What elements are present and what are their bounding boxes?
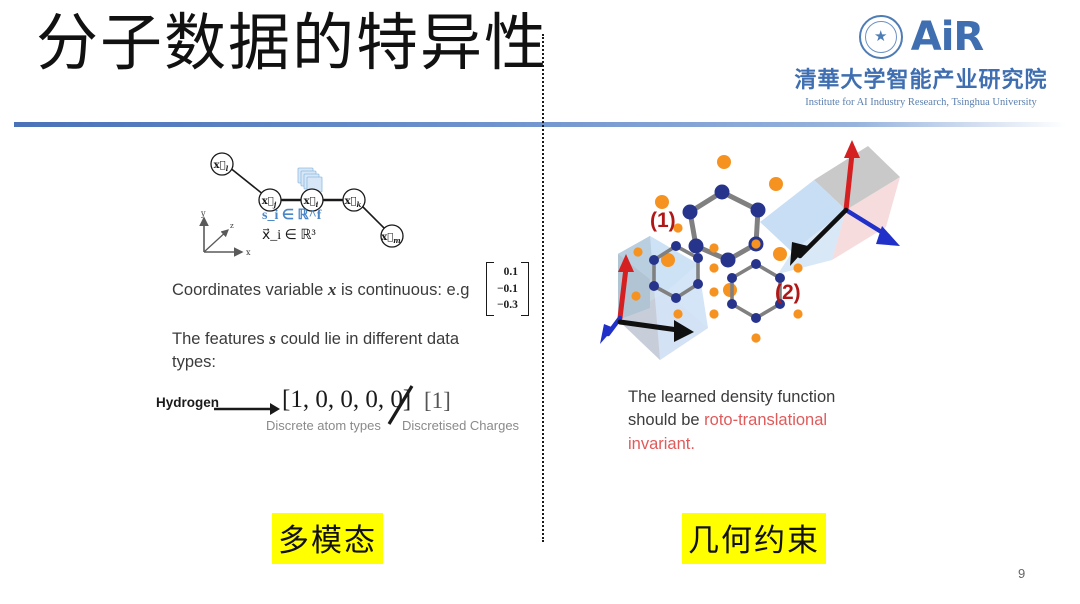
charge-vector: [1]: [424, 388, 451, 414]
atom-type-caption: Discrete atom types: [266, 418, 381, 433]
frame-label-2: (2): [775, 281, 801, 305]
charge-caption: Discretised Charges: [402, 418, 519, 433]
vertical-dotted-divider: [542, 34, 544, 542]
logo-english-name: Institute for AI Industry Research, Tsin…: [790, 97, 1052, 108]
left-footer-highlight: 多模态: [272, 513, 383, 564]
coords-text-pre: Coordinates variable: [172, 281, 328, 299]
coordinates-statement: Coordinates variable x is continuous: e.…: [172, 278, 502, 302]
frame-label-1: (1): [650, 209, 676, 233]
tsinghua-seal-icon: ★: [859, 15, 903, 59]
logo-chinese-name: 清華大学智能产业研究院: [790, 62, 1052, 94]
header-divider: [14, 122, 1066, 127]
page-title: 分子数据的特异性: [36, 12, 548, 77]
coord-value-0: 0.1: [497, 264, 518, 281]
features-text-pre: The features: [172, 330, 269, 348]
svg-text:x: x: [246, 248, 251, 257]
svg-text:z: z: [230, 222, 234, 230]
features-statement: The features s could lie in different da…: [172, 327, 502, 375]
svg-text:y: y: [200, 209, 206, 218]
coord-value-2: −0.3: [497, 297, 518, 314]
bracket-right: [521, 262, 529, 316]
features-variable: s: [269, 329, 276, 348]
slide-canvas: 分子数据的特异性 ★ AiR 清華大学智能产业研究院 Institute for…: [0, 0, 1080, 604]
air-logo: ★ AiR 清華大学智能产业研究院 Institute for AI Indus…: [790, 14, 1052, 108]
vector-definitions: s_i ∈ ℝ^f x⃗_i ∈ ℝ³: [262, 206, 321, 247]
bracket-left: [486, 262, 494, 316]
coords-text-post: is continuous: e.g: [336, 281, 469, 299]
right-footer-highlight: 几何约束: [682, 513, 826, 564]
density-text-post: .: [690, 435, 695, 453]
hydrogen-label: Hydrogen: [156, 395, 219, 410]
roto-translation-figure: [600, 132, 900, 377]
logo-acronym: AiR: [911, 17, 983, 57]
coordinate-column-vector: 0.1 −0.1 −0.3: [486, 262, 529, 316]
coordinate-definition: x⃗_i ∈ ℝ³: [262, 226, 321, 246]
right-arrow-icon: [214, 403, 280, 415]
seal-star-icon: ★: [874, 29, 887, 44]
density-statement: The learned density function should be r…: [628, 386, 846, 456]
feature-definition: s_i ∈ ℝ^f: [262, 206, 321, 226]
xyz-axes-icon: y x z: [192, 208, 254, 262]
page-number: 9: [1018, 566, 1025, 581]
coord-value-1: −0.1: [497, 281, 518, 298]
